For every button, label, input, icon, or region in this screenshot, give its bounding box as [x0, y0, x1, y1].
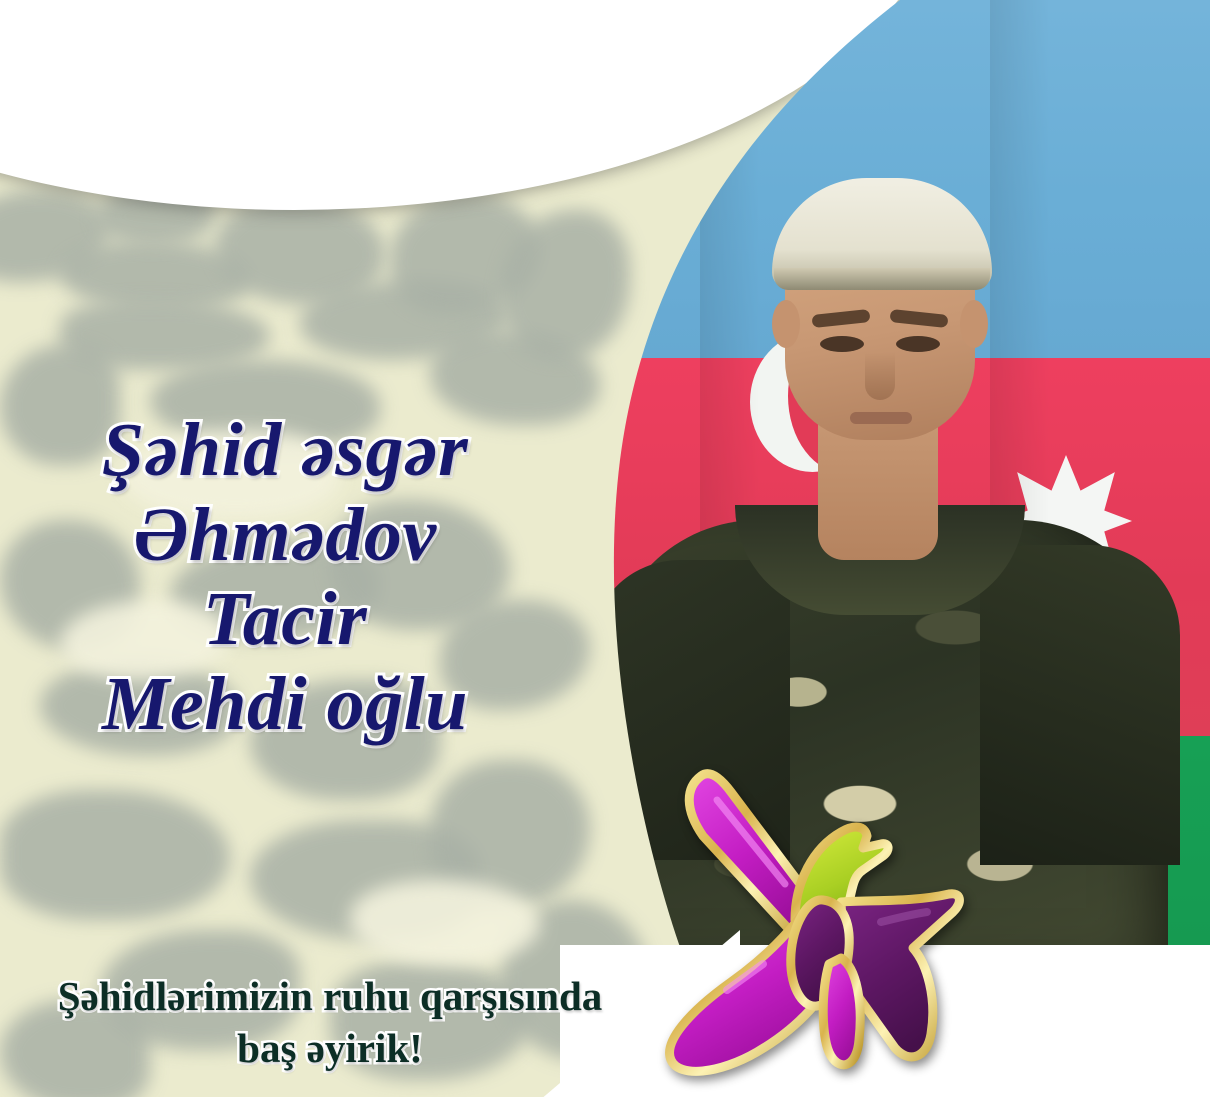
soldier-cap-brim [774, 268, 990, 290]
tribute-line-2: baş əyirik! [0, 1024, 660, 1072]
petal-lower-center [823, 958, 860, 1065]
tribute-line-1: Şəhidlərimizin ruhu qarşısında [0, 972, 660, 1020]
tribute-text: Şəhidlərimizin ruhu qarşısında baş əyiri… [0, 968, 660, 1076]
soldier-nose [865, 352, 895, 400]
soldier-ear-right [960, 300, 988, 348]
title-line-1: Şəhid əsgər [0, 412, 570, 490]
khari-bulbul-flower-icon [645, 752, 985, 1097]
soldier-eye-right [896, 336, 940, 352]
soldier-mouth [850, 412, 912, 424]
soldier-ear-left [772, 300, 800, 348]
memorial-poster: Şəhid əsgər Əhmədov Tacir Mehdi oğlu Şəh… [0, 0, 1210, 1097]
page-title: Şəhid əsgər Əhmədov Tacir Mehdi oğlu [0, 405, 570, 750]
title-line-2: Əhmədov [0, 497, 570, 575]
title-line-3: Tacir [0, 581, 570, 659]
uniform-shoulder-right [980, 545, 1180, 865]
title-line-4: Mehdi oğlu [0, 666, 570, 744]
soldier-eye-left [820, 336, 864, 352]
